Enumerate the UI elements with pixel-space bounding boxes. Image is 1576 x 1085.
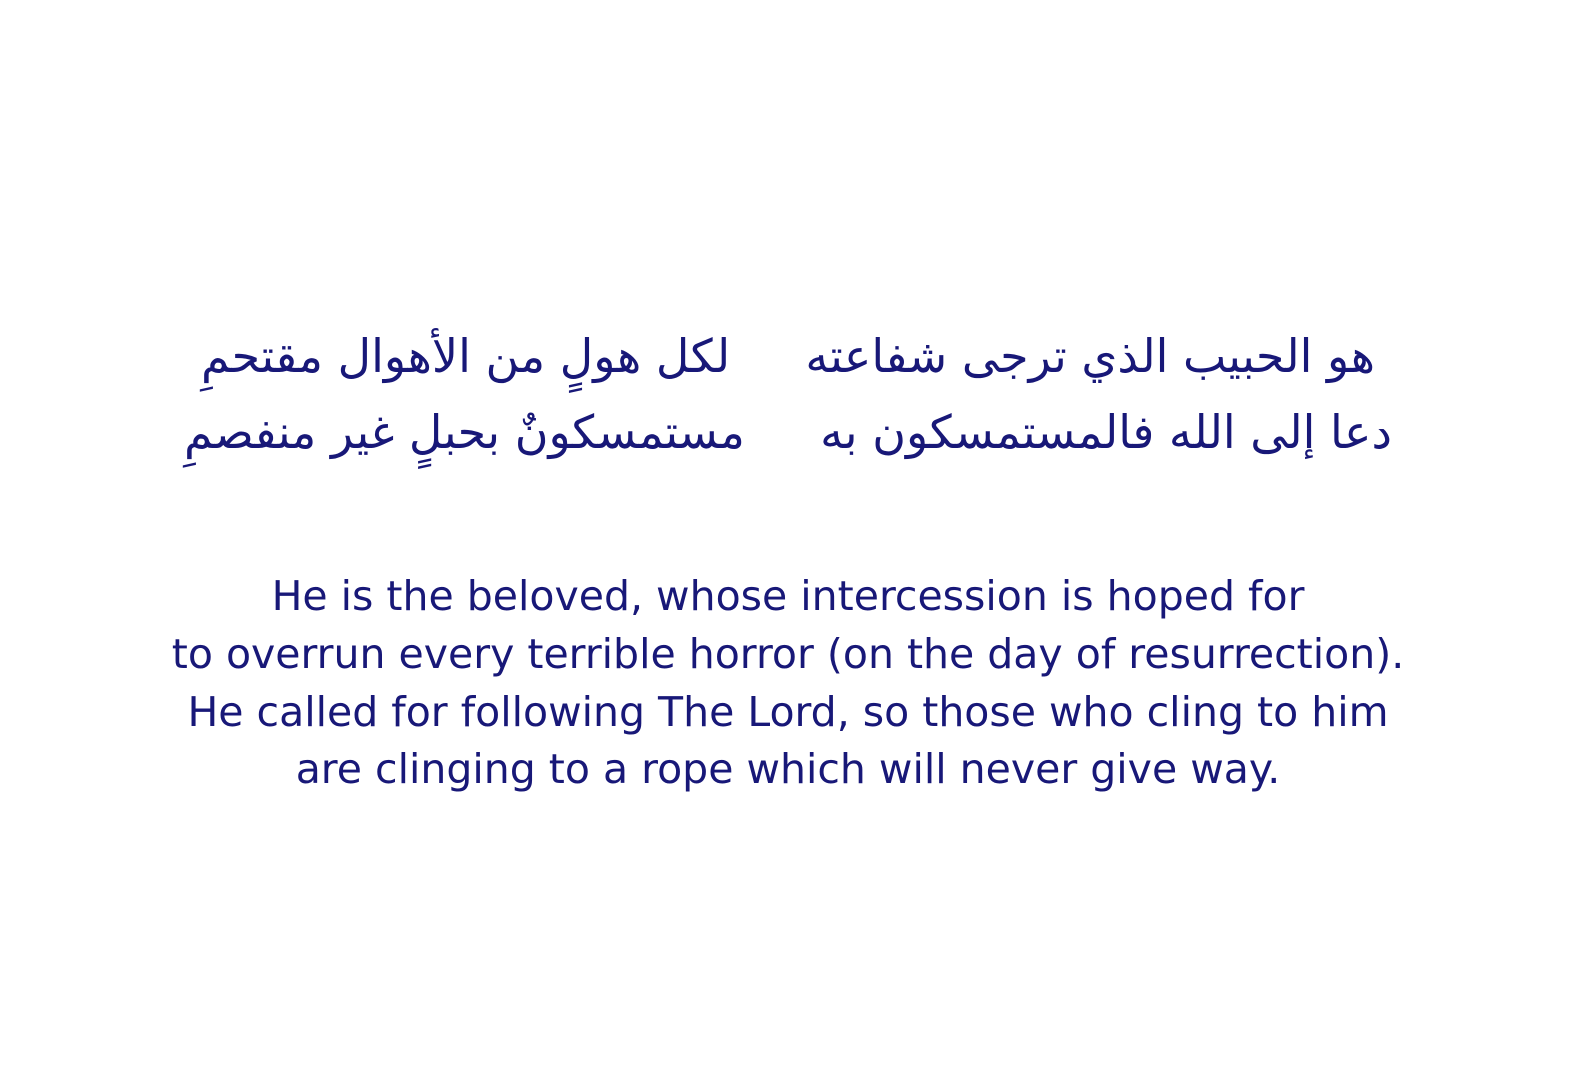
english-translation-line-4: are clinging to a rope which will never … <box>140 741 1436 799</box>
english-translation-line-2: to overrun every terrible horror (on the… <box>140 626 1436 684</box>
english-translation-block: He is the beloved, whose intercession is… <box>0 568 1576 799</box>
slide-canvas: هو الحبيب الذي ترجى شفاعته لكل هولٍ من ا… <box>0 0 1576 1085</box>
arabic-verse-line-1: هو الحبيب الذي ترجى شفاعته لكل هولٍ من ا… <box>90 322 1486 392</box>
arabic-verse-1-hemistich-right: هو الحبيب الذي ترجى شفاعته <box>805 322 1375 392</box>
arabic-verse-2-hemistich-left: مستمسكونٌ بحبلٍ غير منفصمِ <box>184 398 745 468</box>
arabic-verse-2-hemistich-right: دعا إلى الله فالمستمسكون به <box>820 398 1392 468</box>
arabic-poem-block: هو الحبيب الذي ترجى شفاعته لكل هولٍ من ا… <box>0 322 1576 468</box>
arabic-verse-line-2: دعا إلى الله فالمستمسكون به مستمسكونٌ بح… <box>90 398 1486 468</box>
english-translation-line-1: He is the beloved, whose intercession is… <box>140 568 1436 626</box>
arabic-verse-1-hemistich-left: لكل هولٍ من الأهوال مقتحمِ <box>201 322 730 392</box>
english-translation-line-3: He called for following The Lord, so tho… <box>140 684 1436 742</box>
